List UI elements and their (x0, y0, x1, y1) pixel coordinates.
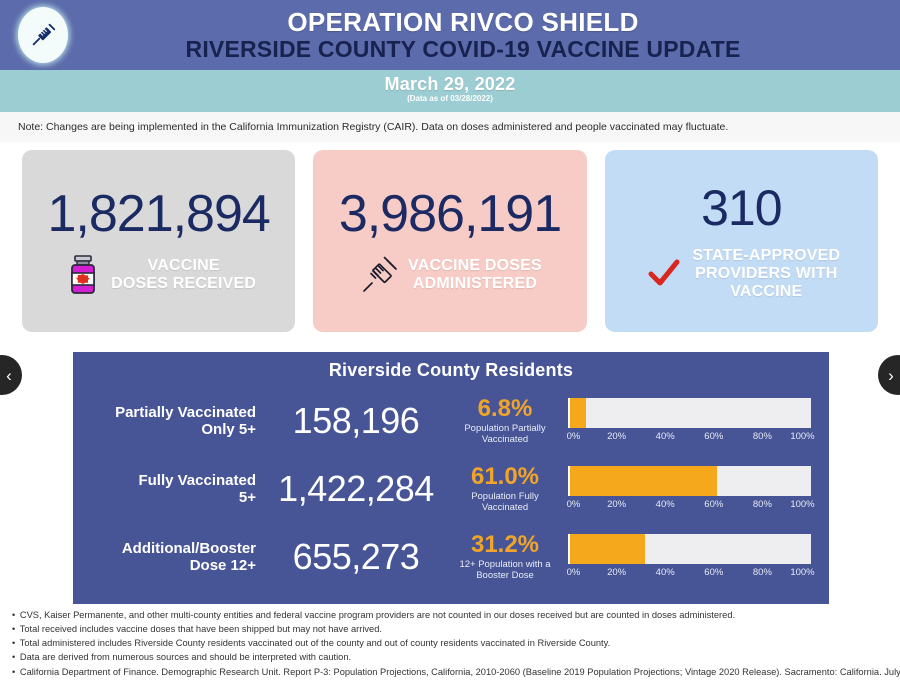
axis-tick-label: 60% (704, 431, 723, 442)
axis-tick-label: 40% (656, 431, 675, 442)
bar-fill-booster (570, 534, 645, 564)
footnote-bullet-icon: • (12, 624, 15, 634)
row-bar-fully: 0%20%40%60%80%100% (564, 466, 819, 512)
row-count-booster: 655,273 (266, 536, 446, 578)
row-label-booster: Additional/Booster Dose 12+ (81, 540, 266, 575)
data-as-of-label: (Data as of 03/28/2022) (0, 94, 900, 103)
row-label-fully-line2: 5+ (81, 489, 256, 506)
approved-providers-label-line2: PROVIDERS WITH (692, 265, 840, 283)
approved-providers-label-line3: VACCINE (692, 283, 840, 301)
row-percent-label-partially-line2: Vaccinated (448, 435, 562, 446)
footnote-item: • Data are derived from numerous sources… (12, 650, 890, 664)
axis-tick-label: 20% (607, 499, 626, 510)
axis-tick-label: 40% (656, 567, 675, 578)
approved-providers-footer: STATE-APPROVED PROVIDERS WITH VACCINE (615, 247, 868, 301)
syringe-icon-glyph-2 (359, 254, 401, 296)
note-bar: Note: Changes are being implemented in t… (0, 112, 900, 142)
row-percent-label-fully-line2: Vaccinated (448, 503, 562, 514)
dashboard-page: OPERATION RIVCO SHIELD RIVERSIDE COUNTY … (0, 0, 900, 680)
row-percent-label-fully: Population Fully Vaccinated (448, 492, 562, 514)
page-title: OPERATION RIVCO SHIELD (86, 8, 840, 37)
vaccine-vial-icon-glyph (66, 254, 100, 296)
row-count-partially-vaccinated: 158,196 (266, 400, 446, 442)
row-bar-booster: 0%20%40%60%80%100% (564, 534, 819, 580)
footnote-item: • Total received includes vaccine doses … (12, 622, 890, 636)
syringe-icon (18, 7, 68, 63)
page-subtitle: RIVERSIDE COUNTY COVID-19 VACCINE UPDATE (86, 37, 840, 62)
row-count-fully-vaccinated: 1,422,284 (266, 468, 446, 510)
approved-providers-label-line1: STATE-APPROVED (692, 247, 840, 265)
row-percent-block-partially: 6.8% Population Partially Vaccinated (446, 396, 564, 446)
axis-tick-label: 0% (567, 499, 581, 510)
doses-administered-value: 3,986,191 (323, 188, 576, 240)
row-percent-label-booster-line2: Booster Dose (448, 571, 562, 582)
doses-received-value: 1,821,894 (32, 188, 285, 240)
stat-card-approved-providers: 310 STATE-APPROVED PROVIDERS WITH VACCIN… (605, 150, 878, 332)
row-label-fully-vaccinated: Fully Vaccinated 5+ (81, 472, 266, 507)
row-percent-block-fully: 61.0% Population Fully Vaccinated (446, 464, 564, 514)
carousel-prev-button[interactable]: ‹ (0, 355, 22, 395)
row-percent-block-booster: 31.2% 12+ Population with a Booster Dose (446, 532, 564, 582)
note-text: Note: Changes are being implemented in t… (18, 121, 728, 133)
residents-row-partially-vaccinated: Partially Vaccinated Only 5+ 158,196 6.8… (73, 387, 829, 455)
axis-tick-label: 100% (790, 567, 814, 578)
residents-panel: Riverside County Residents Partially Vac… (73, 352, 829, 604)
footnote-item: • California Department of Finance. Demo… (12, 665, 890, 679)
row-bar-partially: 0%20%40%60%80%100% (564, 398, 819, 444)
doses-received-label-line2: DOSES RECEIVED (111, 275, 256, 293)
bar-track-fully (568, 466, 811, 496)
bar-fill-partially (570, 398, 586, 428)
axis-tick-label: 60% (704, 567, 723, 578)
red-checkmark-icon-glyph (647, 257, 681, 291)
stat-card-doses-received: 1,821,894 VACCINE DOSES RECEIVED (22, 150, 295, 332)
row-percent-booster: 31.2% (448, 532, 562, 558)
axis-tick-label: 80% (753, 499, 772, 510)
report-date: March 29, 2022 (0, 74, 900, 95)
approved-providers-label: STATE-APPROVED PROVIDERS WITH VACCINE (692, 247, 840, 301)
footnote-bullet-icon: • (12, 610, 15, 620)
doses-received-label: VACCINE DOSES RECEIVED (111, 257, 256, 293)
page-header: OPERATION RIVCO SHIELD RIVERSIDE COUNTY … (0, 0, 900, 70)
footnote-bullet-icon: • (12, 638, 15, 648)
date-banner: March 29, 2022 (Data as of 03/28/2022) (0, 70, 900, 112)
doses-administered-label-line2: ADMINISTERED (408, 275, 542, 293)
syringe-icon-glyph (28, 20, 58, 50)
axis-tick-label: 100% (790, 499, 814, 510)
bar-track-booster (568, 534, 811, 564)
row-percent-fully: 61.0% (448, 464, 562, 490)
stat-card-doses-administered: 3,986,191 (313, 150, 586, 332)
row-label-partially-line2: Only 5+ (81, 421, 256, 438)
footnote-bullet-icon: • (12, 652, 15, 662)
logo-container (0, 7, 86, 63)
axis-tick-label: 80% (753, 431, 772, 442)
axis-tick-label: 20% (607, 431, 626, 442)
carousel-next-button[interactable]: › (878, 355, 900, 395)
axis-tick-label: 80% (753, 567, 772, 578)
chevron-right-icon: › (888, 367, 894, 384)
doses-received-footer: VACCINE DOSES RECEIVED (32, 254, 285, 296)
residents-panel-title: Riverside County Residents (73, 360, 829, 381)
header-title-block: OPERATION RIVCO SHIELD RIVERSIDE COUNTY … (86, 8, 900, 63)
doses-received-label-line1: VACCINE (111, 257, 256, 275)
row-label-booster-line1: Additional/Booster (81, 540, 256, 557)
axis-tick-label: 0% (567, 431, 581, 442)
vaccine-vial-icon (61, 254, 105, 296)
bar-track-partially (568, 398, 811, 428)
chevron-left-icon: ‹ (6, 367, 12, 384)
row-percent-label-booster: 12+ Population with a Booster Dose (448, 560, 562, 582)
row-label-partially-vaccinated: Partially Vaccinated Only 5+ (81, 404, 266, 439)
doses-administered-label-line1: VACCINE DOSES (408, 257, 542, 275)
axis-tick-label: 100% (790, 431, 814, 442)
approved-providers-value: 310 (615, 183, 868, 233)
bar-axis-booster: 0%20%40%60%80%100% (568, 567, 811, 580)
axis-tick-label: 60% (704, 499, 723, 510)
axis-tick-label: 0% (567, 567, 581, 578)
row-label-booster-line2: Dose 12+ (81, 557, 256, 574)
axis-tick-label: 20% (607, 567, 626, 578)
row-percent-partially: 6.8% (448, 396, 562, 422)
footnote-item: • CVS, Kaiser Permanente, and other mult… (12, 608, 890, 622)
syringe-icon (358, 254, 402, 296)
row-label-partially-line1: Partially Vaccinated (81, 404, 256, 421)
stat-cards-row: 1,821,894 VACCINE DOSES RECEIVED (0, 142, 900, 332)
residents-row-fully-vaccinated: Fully Vaccinated 5+ 1,422,284 61.0% Popu… (73, 455, 829, 523)
row-label-fully-line1: Fully Vaccinated (81, 472, 256, 489)
footnotes-list: • CVS, Kaiser Permanente, and other mult… (0, 606, 900, 679)
red-checkmark-icon (642, 257, 686, 291)
row-percent-label-partially: Population Partially Vaccinated (448, 424, 562, 446)
footnote-item: • Total administered includes Riverside … (12, 636, 890, 650)
doses-administered-label: VACCINE DOSES ADMINISTERED (408, 257, 542, 293)
bar-fill-fully (570, 466, 717, 496)
axis-tick-label: 40% (656, 499, 675, 510)
footnote-bullet-icon: • (12, 667, 15, 677)
doses-administered-footer: VACCINE DOSES ADMINISTERED (323, 254, 576, 296)
bar-axis-partially: 0%20%40%60%80%100% (568, 431, 811, 444)
residents-row-booster: Additional/Booster Dose 12+ 655,273 31.2… (73, 523, 829, 591)
bar-axis-fully: 0%20%40%60%80%100% (568, 499, 811, 512)
